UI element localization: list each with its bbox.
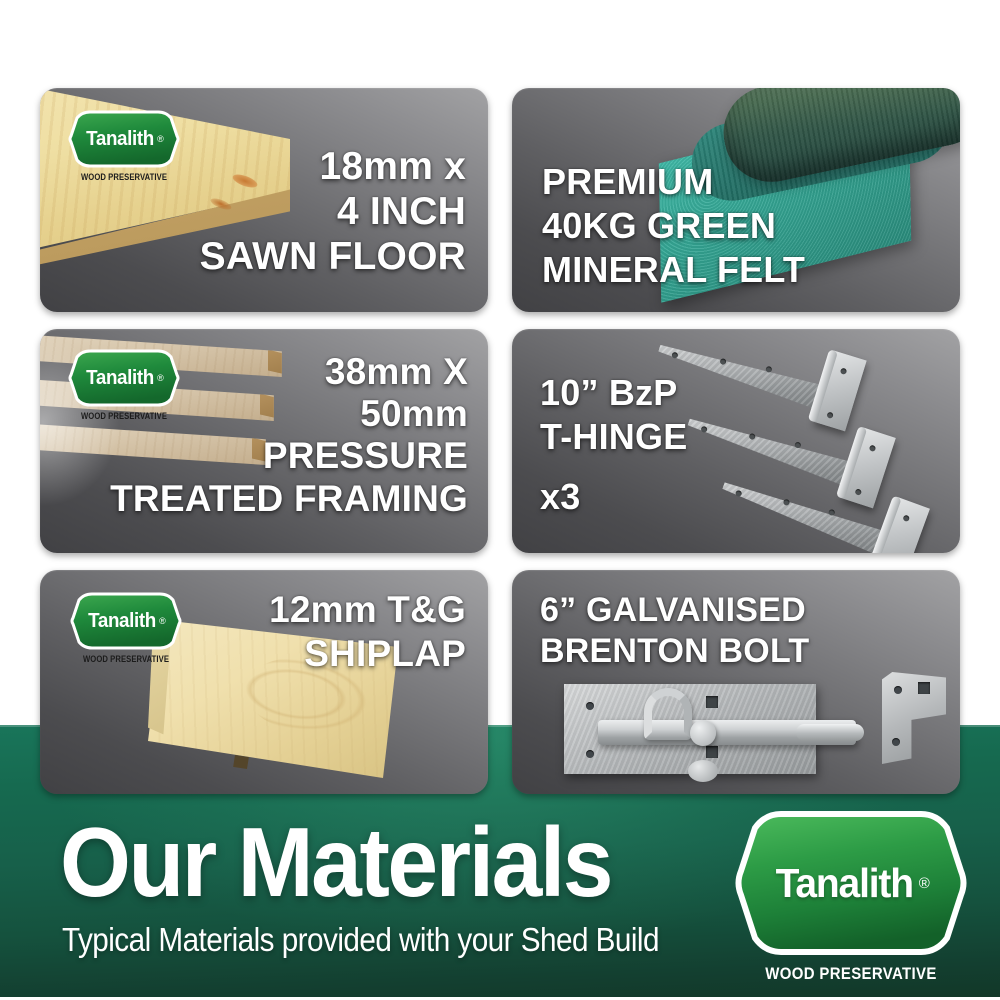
caption-line: 38mm X (110, 351, 468, 393)
material-card-treated-framing[interactable]: Tanalith® WOOD PRESERVATIVE 38mm X 50mm … (40, 329, 488, 553)
caption-line: T-HINGE (540, 415, 687, 459)
card-caption: 10” BzP T-HINGE x3 (540, 371, 687, 519)
caption-line: TREATED FRAMING (110, 478, 468, 520)
tanalith-subtitle: WOOD PRESERVATIVE (76, 172, 171, 182)
tanalith-hexagon-icon-large: Tanalith® (735, 809, 967, 957)
registered-mark: ® (157, 134, 164, 144)
caption-line: PRESSURE (110, 435, 468, 477)
tanalith-wordmark-large: Tanalith (776, 860, 913, 907)
tanalith-badge: Tanalith® WOOD PRESERVATIVE (68, 110, 180, 182)
caption-line: 50mm (110, 393, 468, 435)
caption-line: 12mm T&G (269, 588, 466, 632)
caption-line: x3 (540, 475, 687, 519)
materials-card-grid: Tanalith® WOOD PRESERVATIVE 18mm x 4 INC… (40, 88, 960, 794)
material-card-mineral-felt[interactable]: PREMIUM 40KG GREEN MINERAL FELT (512, 88, 960, 312)
tanalith-logo: Tanalith® WOOD PRESERVATIVE (735, 809, 967, 984)
tanalith-subtitle: WOOD PRESERVATIVE (78, 654, 173, 664)
page-subtitle: Typical Materials provided with your She… (62, 921, 659, 959)
page-title: Our Materials (60, 817, 611, 907)
caption-line: 18mm x (200, 144, 466, 189)
caption-line: PREMIUM (542, 160, 805, 204)
card-caption: 18mm x 4 INCH SAWN FLOOR (200, 144, 466, 280)
caption-line: 40KG GREEN (542, 204, 805, 248)
caption-line: 4 INCH (200, 189, 466, 234)
material-card-t-hinge[interactable]: 10” BzP T-HINGE x3 (512, 329, 960, 553)
tanalith-hexagon-icon: Tanalith® (70, 592, 182, 650)
caption-line: SAWN FLOOR (200, 234, 466, 279)
card-caption: 38mm X 50mm PRESSURE TREATED FRAMING (110, 351, 468, 520)
footer-content: Our Materials Typical Materials provided… (0, 725, 1000, 1000)
card-caption: 6” GALVANISED BRENTON BOLT (540, 590, 809, 673)
caption-line: 10” BzP (540, 371, 687, 415)
material-card-sawn-floor[interactable]: Tanalith® WOOD PRESERVATIVE 18mm x 4 INC… (40, 88, 488, 312)
caption-line: BRENTON BOLT (540, 631, 809, 672)
tanalith-hexagon-icon: Tanalith® (68, 110, 180, 168)
registered-mark: ® (159, 616, 166, 626)
tanalith-badge: Tanalith® WOOD PRESERVATIVE (70, 592, 182, 664)
tanalith-wordmark: Tanalith (88, 610, 156, 633)
tanalith-subtitle-large: WOOD PRESERVATIVE (749, 964, 953, 984)
card-caption: 12mm T&G SHIPLAP (269, 588, 466, 675)
registered-mark-large: ® (919, 875, 930, 892)
caption-line: 6” GALVANISED (540, 590, 809, 631)
tanalith-wordmark: Tanalith (86, 128, 154, 151)
card-caption: PREMIUM 40KG GREEN MINERAL FELT (542, 160, 805, 292)
caption-line: SHIPLAP (269, 632, 466, 676)
caption-line: MINERAL FELT (542, 248, 805, 292)
